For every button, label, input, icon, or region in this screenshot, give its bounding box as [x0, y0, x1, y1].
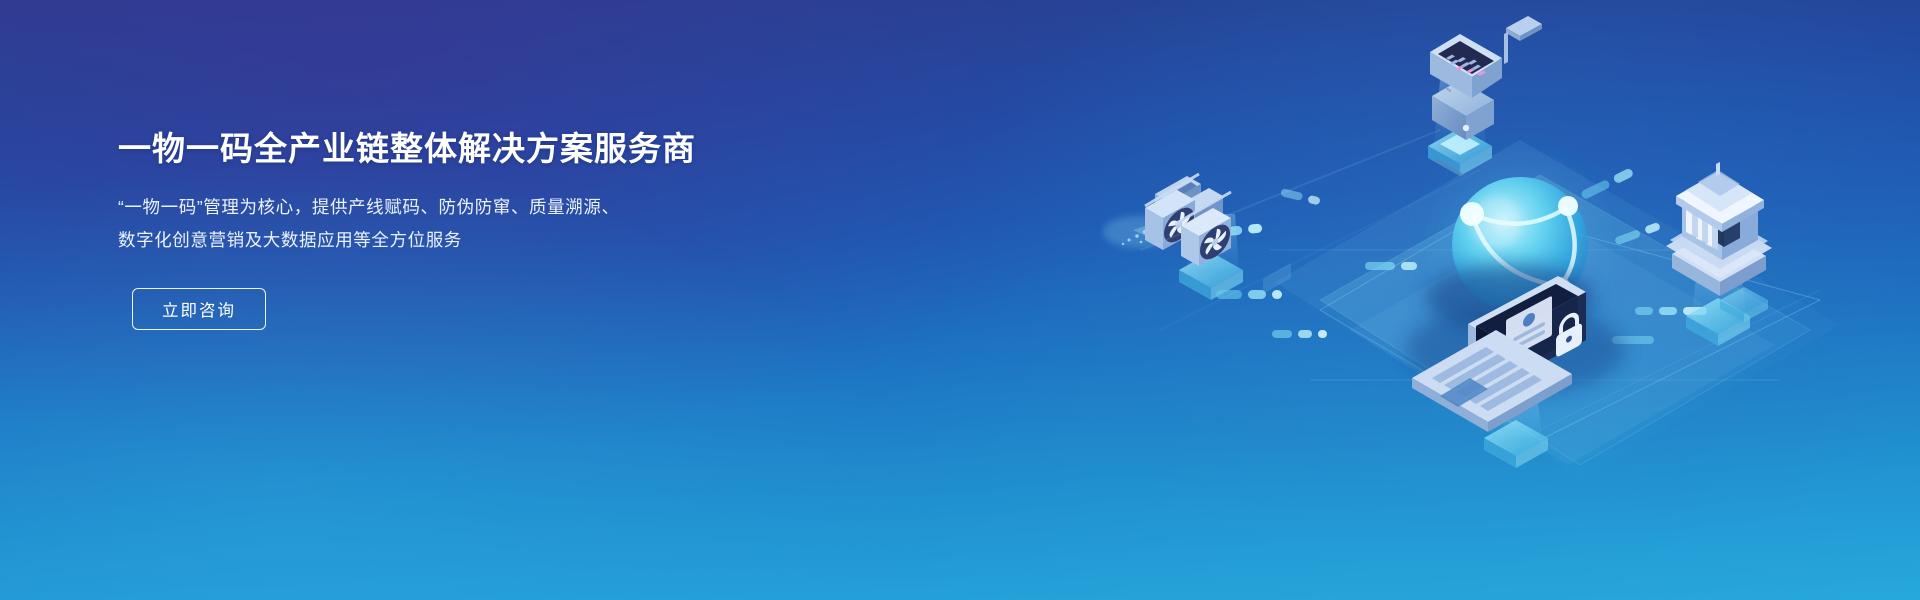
page-title: 一物一码全产业链整体解决方案服务商: [118, 128, 758, 169]
hero-subtitle: “一物一码”管理为核心，提供产线赋码、防伪防窜、质量溯源、 数字化创意营销及大数…: [118, 191, 758, 256]
hero-copy: 一物一码全产业链整体解决方案服务商 “一物一码”管理为核心，提供产线赋码、防伪防…: [118, 128, 758, 330]
subtitle-line-2: 数字化创意营销及大数据应用等全方位服务: [118, 224, 758, 256]
consult-now-button[interactable]: 立即咨询: [132, 288, 266, 330]
subtitle-line-1: “一物一码”管理为核心，提供产线赋码、防伪防窜、质量溯源、: [118, 191, 758, 223]
hero-banner: 一物一码全产业链整体解决方案服务商 “一物一码”管理为核心，提供产线赋码、防伪防…: [0, 0, 1920, 600]
hero-illustration: [1020, 0, 1920, 600]
